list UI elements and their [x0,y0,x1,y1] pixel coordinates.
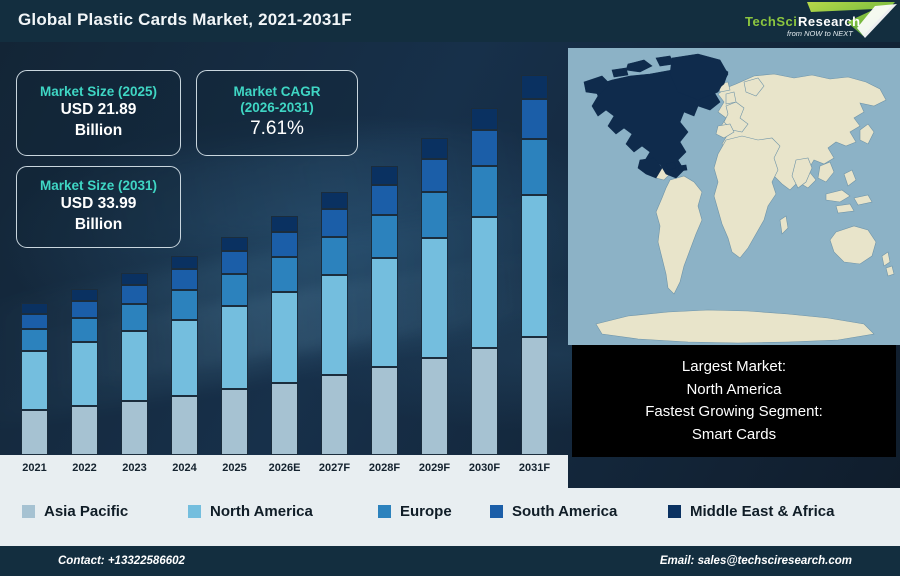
legend-label: Asia Pacific [44,503,128,520]
bar-segment [321,237,348,276]
bar-segment [171,269,198,290]
legend-label: Middle East & Africa [690,503,834,520]
bar-segment [521,75,548,100]
footer-contact: Contact: +13322586602 [58,555,185,567]
bar-segment [221,389,248,455]
x-axis-label-2026E: 2026E [259,462,311,474]
bar-2021 [21,303,48,455]
bar-2029F [421,138,448,455]
legend-label: South America [512,503,617,520]
bar-segment [421,358,448,455]
x-axis-label-2030F: 2030F [459,462,511,474]
x-axis-label-2021: 2021 [9,462,61,474]
bar-segment [221,274,248,306]
bar-segment [171,320,198,396]
bar-segment [21,329,48,351]
bar-segment [521,337,548,455]
bar-segment [471,348,498,455]
bar-segment [121,304,148,331]
x-axis: 202120222023202420252026E2027F2028F2029F… [0,455,568,488]
bar-segment [71,342,98,406]
bar-segment [371,185,398,215]
svg-text:TechSci: TechSci [745,14,797,29]
x-axis-label-2028F: 2028F [359,462,411,474]
bar-segment [71,301,98,318]
key-insights-box: Largest Market: North America Fastest Gr… [572,345,896,457]
bar-segment [521,139,548,195]
bar-segment [271,216,298,232]
stacked-bar-chart: 202120222023202420252026E2027F2028F2029F… [0,42,568,488]
world-map [568,48,900,345]
legend-swatch-icon [378,505,391,518]
x-axis-label-2022: 2022 [59,462,111,474]
x-axis-label-2029F: 2029F [409,462,461,474]
legend-item-europe[interactable]: Europe [378,503,452,520]
legend-label: North America [210,503,313,520]
bar-segment [221,237,248,252]
bar-2025 [221,237,248,455]
bar-segment [321,209,348,237]
bar-segment [421,159,448,192]
bar-segment [371,258,398,367]
bar-2030F [471,108,498,455]
bar-segment [21,314,48,330]
bar-segment [21,410,48,455]
svg-text:from NOW to NEXT: from NOW to NEXT [787,29,854,38]
bar-2031F [521,75,548,455]
svg-text:Research: Research [798,14,861,29]
bar-segment [321,275,348,375]
fastest-segment-label: Fastest Growing Segment: [645,401,823,424]
bar-segment [471,130,498,166]
footer-email: Email: sales@techsciresearch.com [660,555,852,567]
page-title: Global Plastic Cards Market, 2021-2031F [18,10,352,30]
bar-segment [421,138,448,159]
bar-segment [471,166,498,217]
bar-segment [71,289,98,300]
bar-segment [471,108,498,131]
bar-segment [221,251,248,274]
x-axis-label-2023: 2023 [109,462,161,474]
bar-segment [171,290,198,319]
legend-item-middle-east-africa[interactable]: Middle East & Africa [668,503,834,520]
bar-2026E [271,216,298,455]
legend-item-north-america[interactable]: North America [188,503,313,520]
bar-segment [171,256,198,269]
bar-2028F [371,166,398,455]
bar-segment [471,217,498,348]
bar-segment [271,232,298,257]
techsci-research-logo: TechSci Research from NOW to NEXT [715,0,900,42]
bar-segment [321,375,348,455]
x-axis-label-2031F: 2031F [509,462,561,474]
x-axis-label-2024: 2024 [159,462,211,474]
bar-segment [371,367,398,455]
bar-segment [421,192,448,238]
bar-segment [71,318,98,342]
largest-market-value: North America [686,379,781,402]
header-bar: Global Plastic Cards Market, 2021-2031F … [0,0,900,42]
legend-item-south-america[interactable]: South America [490,503,617,520]
bar-segment [121,285,148,304]
bar-segment [321,192,348,209]
x-axis-label-2025: 2025 [209,462,261,474]
bar-segment [71,406,98,455]
fastest-segment-value: Smart Cards [692,424,776,447]
bar-segment [271,383,298,455]
bar-segment [271,292,298,383]
bar-segment [21,351,48,410]
bar-segment [121,401,148,455]
bar-2023 [121,273,148,455]
legend-swatch-icon [490,505,503,518]
footer-bar: Contact: +13322586602 Email: sales@techs… [0,546,900,576]
bar-segment [121,273,148,285]
chart-legend: Asia PacificNorth AmericaEuropeSouth Ame… [0,488,900,534]
bar-segment [271,257,298,292]
bar-2027F [321,192,348,455]
bar-2024 [171,256,198,455]
legend-label: Europe [400,503,452,520]
legend-swatch-icon [188,505,201,518]
legend-swatch-icon [668,505,681,518]
legend-swatch-icon [22,505,35,518]
infographic-root: Global Plastic Cards Market, 2021-2031F … [0,0,900,576]
largest-market-label: Largest Market: [682,356,786,379]
bar-segment [371,166,398,185]
bar-segment [21,303,48,313]
bar-segment [221,306,248,389]
bar-segment [371,215,398,257]
bar-segment [121,331,148,401]
x-axis-label-2027F: 2027F [309,462,361,474]
bar-2022 [71,289,98,455]
bar-segment [171,396,198,455]
bar-segment [521,99,548,139]
bar-segment [421,238,448,358]
bar-segment [521,195,548,338]
legend-item-asia-pacific[interactable]: Asia Pacific [22,503,128,520]
